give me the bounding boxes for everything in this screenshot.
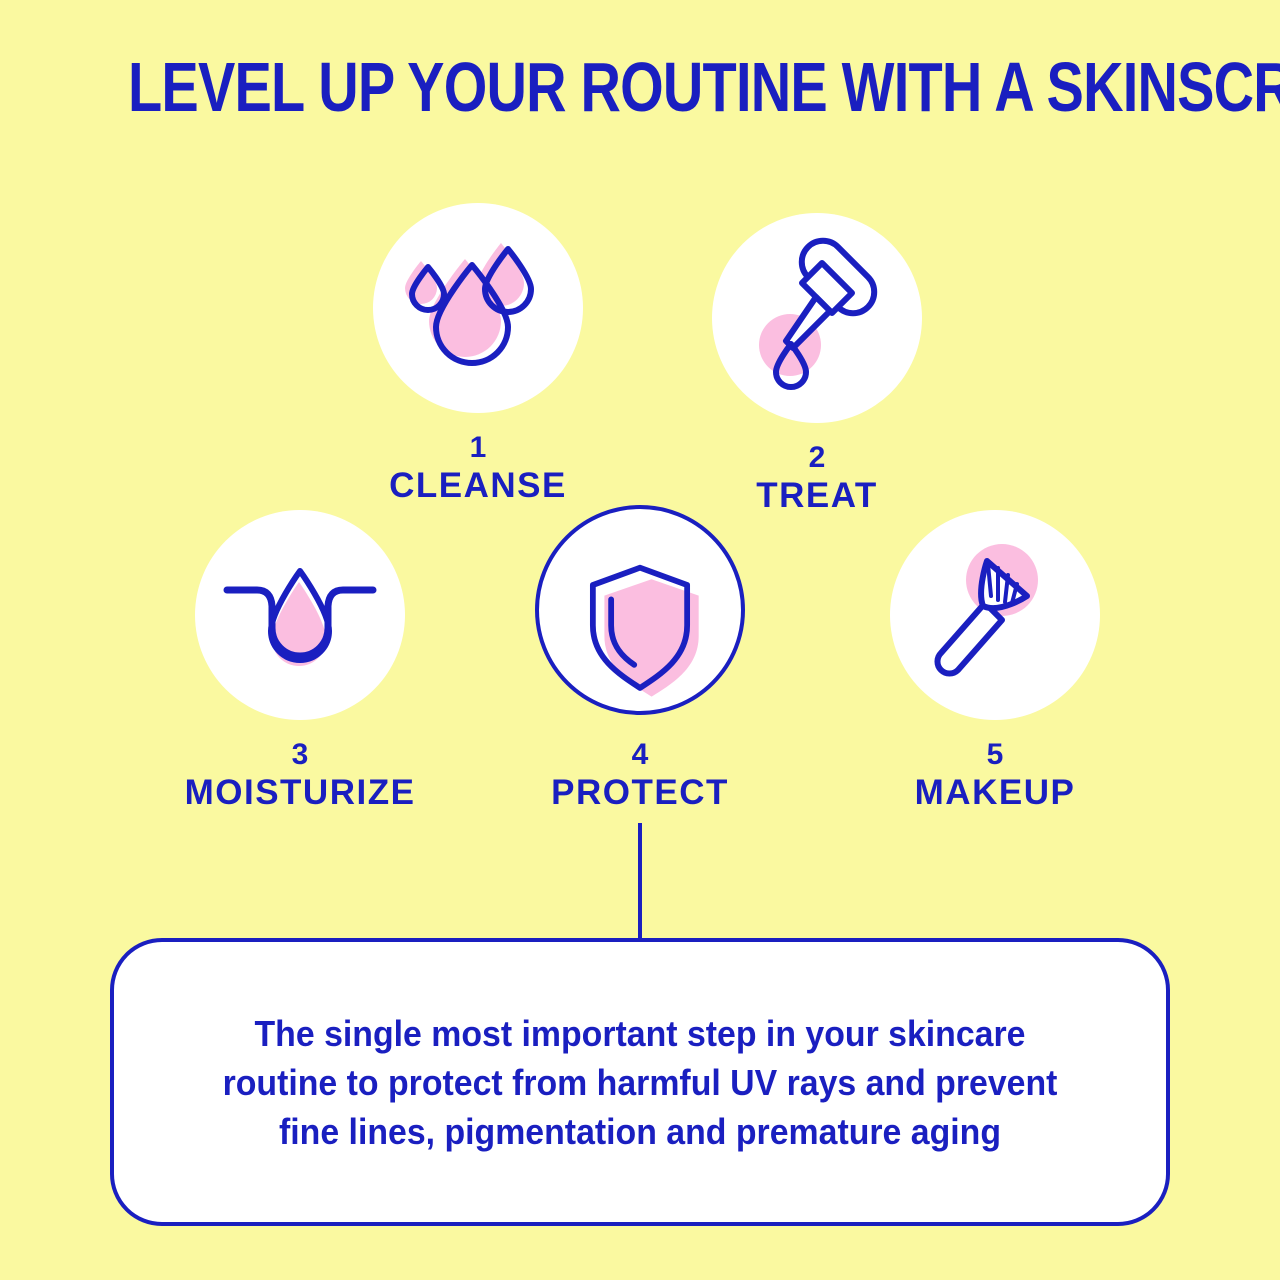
step-cleanse[interactable]: 1 CLEANSE (373, 203, 583, 413)
step-number: 2 (756, 441, 878, 475)
step-moisturize[interactable]: 3 MOISTURIZE (195, 510, 405, 720)
step-number: 5 (915, 738, 1076, 772)
water-droplets-icon (373, 203, 583, 413)
step-number: 1 (389, 431, 567, 465)
step-moisturize-caption: 3 MOISTURIZE (185, 738, 416, 814)
makeup-brush-icon (890, 510, 1100, 720)
step-protect-circle (535, 505, 745, 715)
protect-to-callout-connector (638, 823, 642, 943)
infographic-canvas: LEVEL UP YOUR ROUTINE WITH A SKINSCREEN … (0, 0, 1280, 1280)
step-label: MOISTURIZE (185, 772, 416, 814)
step-cleanse-caption: 1 CLEANSE (389, 431, 567, 507)
callout-text: The single most important step in your s… (146, 1009, 1135, 1156)
step-makeup-circle (890, 510, 1100, 720)
step-protect[interactable]: 4 PROTECT (535, 505, 745, 715)
step-number: 4 (551, 738, 729, 772)
page-title: LEVEL UP YOUR ROUTINE WITH A SKINSCREEN (128, 48, 1152, 126)
callout-box: The single most important step in your s… (110, 938, 1170, 1226)
step-label: MAKEUP (915, 772, 1076, 814)
step-treat-caption: 2 TREAT (756, 441, 878, 517)
step-cleanse-circle (373, 203, 583, 413)
step-label: PROTECT (551, 772, 729, 814)
step-makeup[interactable]: 5 MAKEUP (890, 510, 1100, 720)
step-protect-caption: 4 PROTECT (551, 738, 729, 814)
step-label: CLEANSE (389, 465, 567, 507)
step-label: TREAT (756, 475, 878, 517)
step-number: 3 (185, 738, 416, 772)
step-treat[interactable]: 2 TREAT (712, 213, 922, 423)
shield-icon (539, 509, 741, 711)
step-treat-circle (712, 213, 922, 423)
step-makeup-caption: 5 MAKEUP (915, 738, 1076, 814)
step-moisturize-circle (195, 510, 405, 720)
serum-dropper-icon (712, 213, 922, 423)
droplet-absorbing-skin-icon (195, 510, 405, 720)
